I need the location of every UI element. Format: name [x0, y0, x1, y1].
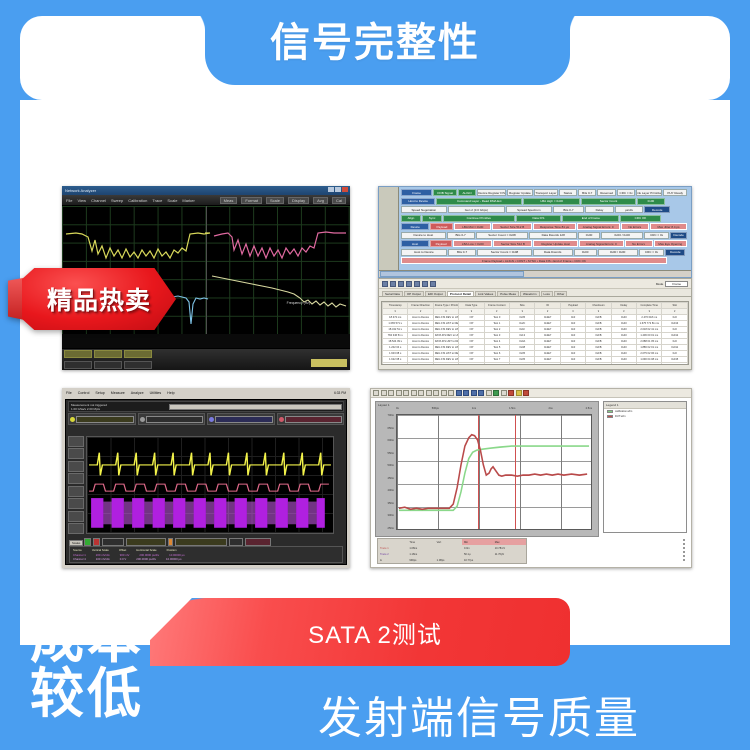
screenshot-tdr-viewer[interactable]: Layout 1 0s500ps1ns1.5ns2ns2.5ns 700m650…: [370, 388, 692, 568]
table-tab[interactable]: Loss: [541, 291, 553, 296]
tree-cell[interactable]: Payload: [430, 240, 452, 247]
table-tab[interactable]: Waveform: [520, 291, 540, 296]
pulse-icon-3[interactable]: [68, 511, 84, 522]
tree-cell[interactable]: Device: [401, 223, 429, 230]
tree-row[interactable]: Host to DeviceBits 0-7Sector Count = 0x0…: [401, 249, 687, 256]
eye-diagram-icon[interactable]: [68, 461, 84, 472]
menu-channel[interactable]: Channel: [91, 198, 106, 203]
tdr-window: Layout 1 0s500ps1ns1.5ns2ns2.5ns 700m650…: [370, 388, 692, 568]
tree-cell[interactable]: Sector Count = 0x08: [477, 249, 531, 256]
softkey-meas[interactable]: Meas: [220, 197, 238, 204]
menu-calibration[interactable]: Calibration: [128, 198, 147, 203]
table-cell: 0x14: [510, 363, 535, 366]
tree-cell[interactable]: CRC = 0x: [639, 249, 665, 256]
tree-cell[interactable]: Decode: [670, 232, 687, 239]
table-body: 18.372 msHost to DeviceREG FIS DEV to HS…: [383, 315, 688, 366]
first-icon[interactable]: [414, 281, 420, 287]
measure-r2-c2: 0.0 V: [120, 557, 127, 561]
tree-cell[interactable]: End of Frame: [562, 215, 619, 222]
record-icon[interactable]: [523, 390, 529, 396]
zoom-in-icon[interactable]: [441, 390, 447, 396]
menu-marker[interactable]: Marker: [182, 198, 194, 203]
tdr-chart[interactable]: [396, 414, 592, 530]
stats-r2c3: 10.77µs: [462, 557, 493, 563]
table-cell: OP: [459, 363, 484, 366]
tdr-traces: [397, 415, 591, 529]
tree-cell[interactable]: Continue Primitive: [443, 215, 515, 222]
tdr-y-tick: 250m: [388, 527, 395, 530]
cost-line-1: 成本: [30, 612, 190, 667]
stats-r2c4: [493, 557, 526, 563]
legend-icon[interactable]: [478, 390, 484, 396]
tree-row[interactable]: FrameOOB SignalALIGNDevice Register FISR…: [401, 189, 687, 196]
status-line-2: 1.00 GSa/s 2.00 Mpts: [71, 407, 100, 411]
table-toolbar[interactable]: Mode Frame: [379, 279, 691, 289]
print-icon[interactable]: [398, 281, 404, 287]
table-tab[interactable]: Other: [554, 291, 568, 296]
stats-row-2: Δ 990ps 1.08ps 10.77µs: [378, 557, 526, 563]
table-cell: 1.010 16 ms: [637, 363, 662, 366]
protocol-tree[interactable]: FrameOOB SignalALIGNDevice Register FISR…: [378, 186, 692, 278]
tdr-y-tick: 500m: [388, 464, 395, 467]
pulse-icon-4[interactable]: [68, 523, 84, 534]
table-tab[interactable]: EDI Output: [425, 291, 446, 296]
menu-analyze[interactable]: Analyze: [131, 391, 144, 395]
channel-4-indicator[interactable]: [279, 417, 284, 422]
channel-1-indicator[interactable]: [70, 417, 75, 422]
softkey-avg[interactable]: Avg: [313, 197, 328, 204]
menu-setup[interactable]: Setup: [95, 391, 104, 395]
tree-cell[interactable]: Host: [401, 240, 429, 247]
channel-3-indicator[interactable]: [209, 417, 214, 422]
tree-cell[interactable]: Sector Size 512 B: [493, 240, 532, 247]
measure-col-hscale: Horizontal Scale: [136, 548, 156, 552]
window-title: Network Analyzer: [65, 188, 96, 193]
measurement-results[interactable]: Source Vertical Scale Offset Horizontal …: [69, 546, 343, 563]
table-tab[interactable]: OP Output: [404, 291, 424, 296]
horizontal-scale-field[interactable]: [126, 538, 166, 546]
channel-2-indicator[interactable]: [140, 417, 145, 422]
undo-icon[interactable]: [426, 390, 432, 396]
horizontal-position-field[interactable]: [175, 538, 227, 546]
tree-row[interactable]: AlignSyncContinue PrimitiveData FISEnd o…: [401, 215, 687, 222]
protocol-tree-pane[interactable]: FrameOOB SignalALIGNDevice Register FISR…: [378, 186, 692, 278]
tree-cell[interactable]: Decode: [644, 206, 670, 213]
tree-cell[interactable]: Host to Device: [401, 249, 447, 256]
quality-headline-text: 发射端信号质量: [318, 694, 640, 743]
menu-scale[interactable]: Scale: [167, 198, 177, 203]
tree-cell[interactable]: Gen 2 (3.0 Gbps): [448, 206, 505, 213]
measure-icon[interactable]: [486, 390, 492, 396]
tree-cell[interactable]: LBA Mid = 0x00: [454, 223, 491, 230]
menu-file[interactable]: File: [66, 198, 72, 203]
menu-trace[interactable]: Trace: [152, 198, 162, 203]
table-cell: 1.611 03 s: [383, 363, 408, 366]
measure-col-source: Source: [73, 548, 82, 552]
tree-cell[interactable]: Spread Spectrum: [506, 206, 552, 213]
tree-cell[interactable]: Frame: [401, 189, 432, 196]
oscilloscope-window: File Control Setup Measure Analyze Utili…: [62, 388, 350, 568]
tree-cell[interactable]: Payload: [430, 223, 453, 230]
scope-graticule[interactable]: [86, 436, 334, 534]
scope-waveforms: [87, 437, 333, 533]
filter-icon[interactable]: [406, 281, 412, 287]
pulse-icon-2[interactable]: [68, 498, 84, 509]
tree-cell[interactable]: Sector Count = 0x08: [476, 232, 529, 239]
tree-cell[interactable]: Bits 0-7: [553, 206, 584, 213]
table-cell: Test 8: [484, 363, 509, 366]
single-button[interactable]: [102, 538, 124, 546]
tree-cell[interactable]: LBA High = 0x00: [523, 198, 580, 205]
edge-trigger-icon[interactable]: [68, 448, 84, 459]
sata-banner: SATA 2测试: [150, 598, 570, 666]
data-table-window[interactable]: Mode Frame Serial DataOP OutputEDI Outpu…: [378, 278, 692, 370]
tree-cell[interactable]: No Errors: [625, 240, 653, 247]
prev-icon[interactable]: [422, 281, 428, 287]
analyzer-menubar[interactable]: File View Channel Sweep Calibration Trac…: [62, 195, 350, 206]
quality-headline: 发射端信号质量: [318, 682, 640, 746]
tdr-x-tick: 1ns: [472, 407, 476, 414]
close-icon[interactable]: [342, 187, 348, 192]
tree-row[interactable]: DevicePayloadLBA Mid = 0x00Sector Size 5…: [401, 223, 687, 230]
menu-control[interactable]: Control: [78, 391, 90, 395]
table-tab[interactable]: Pulse Meas: [497, 291, 519, 296]
measure-r2-c1: 100 mV/div: [96, 557, 110, 561]
new-icon[interactable]: [373, 390, 379, 396]
window-controls[interactable]: [328, 187, 348, 192]
measure-row-2: Channel 4 100 mV/div 0.0 V 200.0000 ps/d…: [70, 557, 342, 561]
save-icon[interactable]: [390, 281, 396, 287]
menu-file[interactable]: File: [66, 391, 72, 395]
window-titlebar: Network Analyzer: [62, 186, 350, 195]
softkey-cal[interactable]: Cal: [332, 197, 346, 204]
tree-cell[interactable]: LBA Low = 0x00: [453, 240, 492, 247]
poster-root: Network Analyzer File View Channel Sweep…: [0, 0, 750, 750]
tdr-y-tick: 700m: [388, 414, 395, 417]
tdr-x-tick: 1.5ns: [509, 407, 515, 414]
tdr-x-tick: 0s: [396, 407, 399, 414]
table-grid[interactable]: TimestampFrame DirectionFrame Type / Pri…: [381, 301, 689, 365]
tree-cell[interactable]: Data FIS: [516, 215, 562, 222]
tree-cell[interactable]: Sync: [422, 215, 442, 222]
annot-1: Frequency (Hz): [287, 301, 310, 305]
page-title: 信号完整性: [0, 0, 750, 78]
warning-icon[interactable]: [516, 390, 522, 396]
tree-cell[interactable]: Decode: [665, 249, 685, 256]
channel-1-control[interactable]: [68, 413, 136, 425]
tdr-toolbar[interactable]: [371, 389, 691, 398]
tree-cell[interactable]: 0x00: [637, 198, 666, 205]
cut-icon[interactable]: [403, 390, 409, 396]
status-highlight: [311, 359, 347, 367]
hot-sale-badge: 精品热卖: [8, 268, 176, 330]
tdr-y-tick: 450m: [388, 477, 395, 480]
mode-selector[interactable]: Mode Frame: [656, 281, 688, 287]
scope-menubar[interactable]: File Control Setup Measure Analyze Utili…: [62, 388, 350, 397]
trigger-level-field[interactable]: [245, 538, 271, 546]
tree-cell[interactable]: Host to Device: [401, 198, 435, 205]
tdr-stats-panel[interactable]: Time Vert Min Max Trace 1 1.08ns 0.0m 10…: [377, 538, 527, 564]
channel-2-scale-field[interactable]: [146, 416, 204, 423]
stats-r2c2: 1.08ps: [435, 557, 462, 563]
tree-cell[interactable]: 0x00: [578, 232, 600, 239]
tree-cell[interactable]: Sector Size 512 B: [492, 223, 532, 230]
table-tab[interactable]: Protocol Detail: [447, 291, 474, 296]
menu-measure[interactable]: Measure: [111, 391, 125, 395]
softkey-format[interactable]: Format: [241, 197, 262, 204]
tree-row[interactable]: Frame Payload • ALIGN • CONT • SYNC • Da…: [401, 257, 687, 264]
tree-cell[interactable]: 0x00 / 0x00: [598, 249, 638, 256]
screenshot-grid: Network Analyzer File View Channel Sweep…: [62, 186, 692, 568]
sata-banner-label: SATA 2测试: [308, 615, 442, 650]
tdr-y-tick: 350m: [388, 502, 395, 505]
table-tab[interactable]: Link Values: [475, 291, 496, 296]
tdr-x-tick: 2.5ns: [586, 407, 592, 414]
table-tab[interactable]: Serial Data: [382, 291, 403, 296]
tree-cell[interactable]: Device to Host: [401, 232, 446, 239]
copy-icon[interactable]: [411, 390, 417, 396]
tree-cell[interactable]: µs/div: [615, 206, 644, 213]
mode-label: Mode: [656, 282, 664, 286]
zoom-out-icon[interactable]: [448, 390, 454, 396]
autoscale-icon[interactable]: [68, 436, 84, 447]
settings-icon[interactable]: [501, 390, 507, 396]
softkey-display[interactable]: Display: [288, 197, 309, 204]
tdr-x-tick: 500ps: [432, 407, 439, 414]
channel-1-scale-field[interactable]: [76, 416, 134, 423]
tree-cell[interactable]: Bits 0-7: [447, 232, 475, 239]
trigger-marker-icon[interactable]: [168, 538, 173, 546]
tdr-y-tick: 600m: [388, 439, 395, 442]
channel-3-control[interactable]: [207, 413, 275, 425]
stats-r2c0: Δ: [378, 557, 407, 563]
softkey-scale[interactable]: Scale: [266, 197, 284, 204]
table-cell: 0x40: [611, 363, 636, 366]
table-cell: REG FIS HST to DEV: [433, 363, 458, 366]
tree-cell[interactable]: Response Time 81 µs: [533, 223, 576, 230]
tree-cell[interactable]: Data Dwords: [533, 249, 573, 256]
cost-line-2: 较低: [30, 667, 190, 722]
tree-row[interactable]: HostPayloadLBA Low = 0x00Sector Size 512…: [401, 240, 687, 247]
tree-rows[interactable]: FrameOOB SignalALIGNDevice Register FISR…: [401, 189, 687, 266]
tree-cell[interactable]: CRC OK: [620, 215, 660, 222]
table-cell: 0x2E7: [535, 363, 560, 366]
tree-cell[interactable]: Max Eye Opening: [654, 240, 687, 247]
pulse-icon-1[interactable]: [68, 486, 84, 497]
resize-handle[interactable]: [683, 539, 687, 561]
tree-cell[interactable]: Command Layer - Read DMA Ext: [436, 198, 522, 205]
channel-2-control[interactable]: [138, 413, 206, 425]
tree-cell[interactable]: 0x00: [574, 249, 597, 256]
tree-row[interactable]: Host to DeviceCommand Layer - Read DMA E…: [401, 198, 687, 205]
save-icon[interactable]: [388, 390, 394, 396]
table-cell: 0x0: [560, 363, 585, 366]
table-row[interactable]: 1.611 03 sHost to DeviceREG FIS HST to D…: [383, 363, 688, 366]
tree-cell[interactable]: Register Update: [507, 189, 533, 196]
tree-cell[interactable]: Link Layer Primitives: [636, 189, 662, 196]
tree-cell[interactable]: Bits 0-7: [578, 189, 596, 196]
horizontal-scrollbar[interactable]: [379, 270, 691, 277]
scrollbar-thumb[interactable]: [380, 271, 524, 277]
screenshot-oscilloscope[interactable]: File Control Setup Measure Analyze Utili…: [62, 388, 350, 568]
channel-4-control[interactable]: [277, 413, 345, 425]
menu-view[interactable]: View: [77, 198, 86, 203]
run-icon[interactable]: [493, 390, 499, 396]
analyzer-softkeys[interactable]: Meas Format Scale Display Avg Cal: [220, 197, 346, 204]
badge-label: 精品热卖: [47, 281, 151, 317]
tree-cell[interactable]: CRC = 0x: [644, 232, 669, 239]
open-icon[interactable]: [381, 390, 387, 396]
table-tabs[interactable]: Serial DataOP OutputEDI OutputProtocol D…: [379, 289, 691, 297]
stop-icon[interactable]: [508, 390, 514, 396]
cost-headline: 成本 较低: [30, 612, 190, 722]
tdr-y-tick: 550m: [388, 452, 395, 455]
tree-cell[interactable]: Transport Layer: [534, 189, 558, 196]
screenshot-protocol-decoder[interactable]: FrameOOB SignalALIGNDevice Register FISR…: [378, 186, 692, 370]
horizontal-controls[interactable]: [84, 537, 342, 546]
tree-cell[interactable]: Speed Negotiation: [401, 206, 447, 213]
tree-cell[interactable]: Analog Signal Errors: 0: [577, 223, 620, 230]
nav-buttons[interactable]: [229, 538, 243, 546]
scope-status: Measurement not triggered 1.00 GSa/s 2.0…: [68, 401, 344, 412]
tree-cell[interactable]: Register Update Host: [533, 240, 578, 247]
badge-hexagon: 精品热卖: [22, 268, 176, 330]
waveform-selector[interactable]: [169, 404, 341, 410]
cursor-icon[interactable]: [456, 390, 462, 396]
minimize-icon[interactable]: [328, 187, 334, 192]
legend-title: Legend 1: [604, 402, 686, 409]
tree-cell[interactable]: Max Jitter 8.4 ps: [650, 223, 687, 230]
tree-cell[interactable]: ALIGN: [458, 189, 476, 196]
redo-icon[interactable]: [433, 390, 439, 396]
mode-value[interactable]: Frame: [665, 281, 688, 287]
tdr-x-tick: 2ns: [548, 407, 552, 414]
tree-cell[interactable]: Analog Signal Errors: 0: [579, 240, 624, 247]
run-button[interactable]: [84, 538, 91, 546]
menu-sweep[interactable]: Sweep: [111, 198, 123, 203]
scope-side-toolbar[interactable]: [68, 436, 84, 534]
tree-cell[interactable]: Device Register FIS: [477, 189, 506, 196]
maximize-icon[interactable]: [335, 187, 341, 192]
mask-test-icon[interactable]: [68, 473, 84, 484]
stats-r2c1: 990ps: [407, 557, 434, 563]
status-fields-bottom: [64, 361, 152, 369]
legend-swatch-calibration: [607, 410, 613, 413]
menu-help[interactable]: Help: [167, 391, 174, 395]
marker-icon[interactable]: [463, 390, 469, 396]
tree-cell[interactable]: Delay: [585, 206, 614, 213]
tree-gutter: [379, 187, 399, 277]
tree-cell[interactable]: No Errors: [621, 223, 649, 230]
tree-cell[interactable]: Frame Payload • ALIGN • CONT • SYNC • Da…: [401, 257, 667, 264]
tree-cell[interactable]: Data Dwords 128: [529, 232, 576, 239]
tree-cell[interactable]: Reserved: [597, 189, 615, 196]
tree-cell[interactable]: Align: [401, 215, 421, 222]
legend-swatch-dut: [607, 415, 613, 418]
tdr-y-tick: 300m: [388, 514, 395, 517]
legend-label-calibration: calibration.wfm: [615, 410, 632, 413]
page-title-text: 信号完整性: [270, 10, 480, 68]
analyzer-status-bar: [62, 348, 350, 370]
data-table-pane[interactable]: Mode Frame Serial DataOP OutputEDI Outpu…: [378, 278, 692, 370]
tree-cell[interactable]: Status: [559, 189, 577, 196]
tdr-legend[interactable]: Legend 1 calibration.wfm DUT.wfm: [603, 401, 687, 533]
table-cell: Host to Device: [408, 363, 433, 366]
menu-utilities[interactable]: Utilities: [150, 391, 162, 395]
tree-cell[interactable]: Sector Count: [581, 198, 635, 205]
tree-cell[interactable]: OOB Signal: [433, 189, 457, 196]
channel-3-scale-field[interactable]: [215, 416, 273, 423]
measure-r2-c3: 200.0000 ps/div: [136, 557, 156, 561]
tree-cell[interactable]: 0x00 / 0x00: [601, 232, 643, 239]
tdr-y-tick: 400m: [388, 489, 395, 492]
grid-icon[interactable]: [471, 390, 477, 396]
measure-col-offset: Offset: [119, 548, 126, 552]
measure-r2-c4: 10.00000 µs: [166, 557, 181, 561]
measure-r2-c0: Channel 4: [73, 557, 86, 561]
tdr-y-tick: 650m: [388, 427, 395, 430]
measure-col-position: Position: [167, 548, 177, 552]
table-cell: 0x0: [662, 363, 688, 366]
scope-body: Measurement not triggered 1.00 GSa/s 2.0…: [65, 399, 347, 565]
scope-clock: 6:33 PM: [334, 391, 346, 395]
tree-row[interactable]: Device to HostBits 0-7Sector Count = 0x0…: [401, 232, 687, 239]
tree-cell[interactable]: PHY Ready: [663, 189, 687, 196]
legend-label-dut: DUT.wfm: [615, 415, 626, 418]
tdr-x-axis: 0s500ps1ns1.5ns2ns2.5ns: [396, 407, 592, 414]
print-icon[interactable]: [396, 390, 402, 396]
legend-item-1[interactable]: DUT.wfm: [604, 414, 686, 419]
tdr-y-axis: 700m650m600m550m500m450m400m350m300m250m: [378, 414, 395, 530]
measure-col-vscale: Vertical Scale: [92, 548, 109, 552]
open-icon[interactable]: [382, 281, 388, 287]
channel-controls[interactable]: [68, 413, 344, 425]
channel-4-scale-field[interactable]: [285, 416, 343, 423]
status-fields-top: [64, 350, 152, 358]
tdr-plot-panel[interactable]: Layout 1 0s500ps1ns1.5ns2ns2.5ns 700m650…: [375, 401, 599, 537]
stop-button[interactable]: [93, 538, 100, 546]
paste-icon[interactable]: [418, 390, 424, 396]
table-cell: 0xFB: [586, 363, 611, 366]
tree-row[interactable]: Speed NegotiationGen 2 (3.0 Gbps)Spread …: [401, 206, 687, 213]
tree-cell[interactable]: CRC = 0x: [617, 189, 635, 196]
tree-cell[interactable]: Bits 0-7: [448, 249, 477, 256]
next-icon[interactable]: [430, 281, 436, 287]
